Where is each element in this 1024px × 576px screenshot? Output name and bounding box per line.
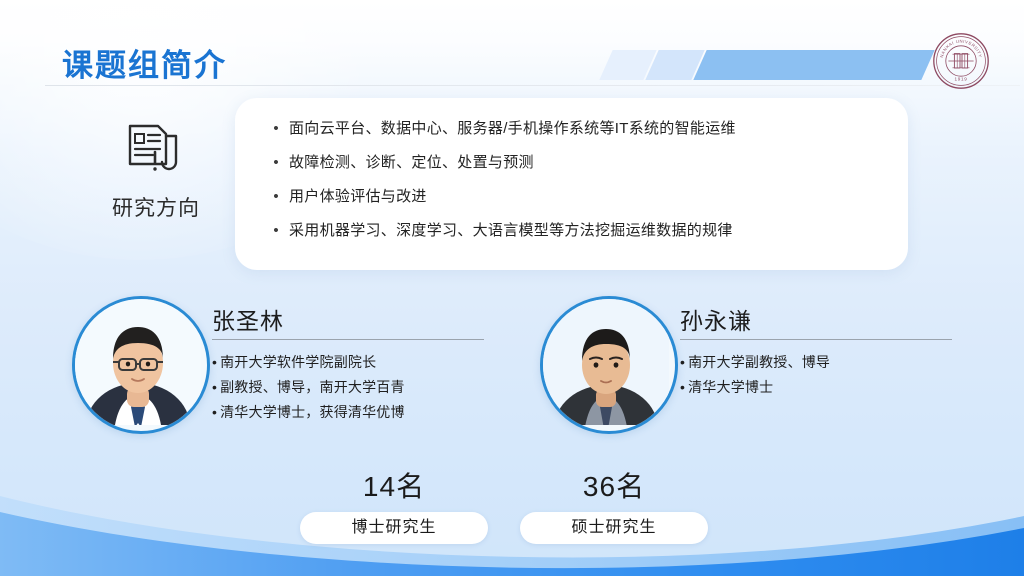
bullet-marker-icon: • xyxy=(263,152,289,174)
research-bullet-list: • 面向云平台、数据中心、服务器/手机操作系统等IT系统的智能运维 • 故障检测… xyxy=(263,118,888,254)
bullet-text: 面向云平台、数据中心、服务器/手机操作系统等IT系统的智能运维 xyxy=(289,118,736,140)
bullet-text: 故障检测、诊断、定位、处置与预测 xyxy=(289,152,534,174)
avatar-photo xyxy=(543,299,669,425)
bullet-marker-icon: • xyxy=(212,404,217,420)
bullet-marker-icon: • xyxy=(680,379,685,395)
person-detail-text: 副教授、博导，南开大学百青 xyxy=(220,379,405,395)
avatar xyxy=(72,296,210,434)
person-detail-text: 清华大学博士，获得清华优博 xyxy=(220,404,405,420)
avatar-photo xyxy=(75,299,201,425)
bullet-marker-icon: • xyxy=(263,186,289,208)
svg-text:1919: 1919 xyxy=(954,77,967,82)
person-detail-text: 南开大学副教授、博导 xyxy=(688,354,830,370)
bullet-text: 采用机器学习、深度学习、大语言模型等方法挖掘运维数据的规律 xyxy=(289,220,733,242)
header-stripe-decoration xyxy=(596,50,926,80)
research-direction-label: 研究方向 xyxy=(96,192,216,222)
page-title: 课题组简介 xyxy=(62,40,227,85)
slide-canvas: 课题组简介 NANKAI UNIVERSITY 1919 研究方向 • xyxy=(0,0,1024,576)
document-alert-icon xyxy=(122,122,184,180)
list-item: •清华大学博士 xyxy=(680,375,980,400)
stat-label-pill: 硕士研究生 xyxy=(520,512,708,544)
bullet-marker-icon: • xyxy=(680,354,685,370)
person-detail-text: 南开大学软件学院副院长 xyxy=(220,354,376,370)
list-item: • 用户体验评估与改进 xyxy=(263,186,888,208)
research-direction-card: • 面向云平台、数据中心、服务器/手机操作系统等IT系统的智能运维 • 故障检测… xyxy=(235,98,908,270)
person-detail-list: •南开大学副教授、博导 •清华大学博士 xyxy=(680,350,980,400)
person-name-underline xyxy=(212,339,484,340)
svg-text:NANKAI UNIVERSITY: NANKAI UNIVERSITY xyxy=(939,39,983,59)
stat-label-pill: 博士研究生 xyxy=(300,512,488,544)
person-name: 张圣林 xyxy=(212,302,284,336)
list-item: •南开大学软件学院副院长 xyxy=(212,350,512,375)
avatar xyxy=(540,296,678,434)
list-item: •南开大学副教授、博导 xyxy=(680,350,980,375)
list-item: •清华大学博士，获得清华优博 xyxy=(212,400,512,425)
list-item: •副教授、博导，南开大学百青 xyxy=(212,375,512,400)
bottom-wave-decoration xyxy=(0,466,1024,576)
stat-masters: 36名 硕士研究生 xyxy=(514,470,714,544)
list-item: • 采用机器学习、深度学习、大语言模型等方法挖掘运维数据的规律 xyxy=(263,220,888,242)
list-item: • 故障检测、诊断、定位、处置与预测 xyxy=(263,152,888,174)
bullet-marker-icon: • xyxy=(212,379,217,395)
bullet-marker-icon: • xyxy=(263,220,289,242)
person-detail-text: 清华大学博士 xyxy=(688,379,773,395)
nankai-university-logo-icon: NANKAI UNIVERSITY 1919 xyxy=(932,32,990,90)
person-detail-list: •南开大学软件学院副院长 •副教授、博导，南开大学百青 •清华大学博士，获得清华… xyxy=(212,350,512,425)
person-name: 孙永谦 xyxy=(680,302,752,336)
person-card-1: 张圣林 •南开大学软件学院副院长 •副教授、博导，南开大学百青 •清华大学博士，… xyxy=(72,296,502,446)
bullet-text: 用户体验评估与改进 xyxy=(289,186,427,208)
header-stripe-3 xyxy=(693,50,934,80)
person-card-2: 孙永谦 •南开大学副教授、博导 •清华大学博士 xyxy=(540,296,970,446)
person-name-underline xyxy=(680,339,952,340)
stat-number: 36名 xyxy=(514,470,714,504)
stat-doctoral: 14名 博士研究生 xyxy=(294,470,494,544)
bullet-marker-icon: • xyxy=(212,354,217,370)
title-divider xyxy=(45,85,1020,86)
bullet-marker-icon: • xyxy=(263,118,289,140)
list-item: • 面向云平台、数据中心、服务器/手机操作系统等IT系统的智能运维 xyxy=(263,118,888,140)
stat-number: 14名 xyxy=(294,470,494,504)
